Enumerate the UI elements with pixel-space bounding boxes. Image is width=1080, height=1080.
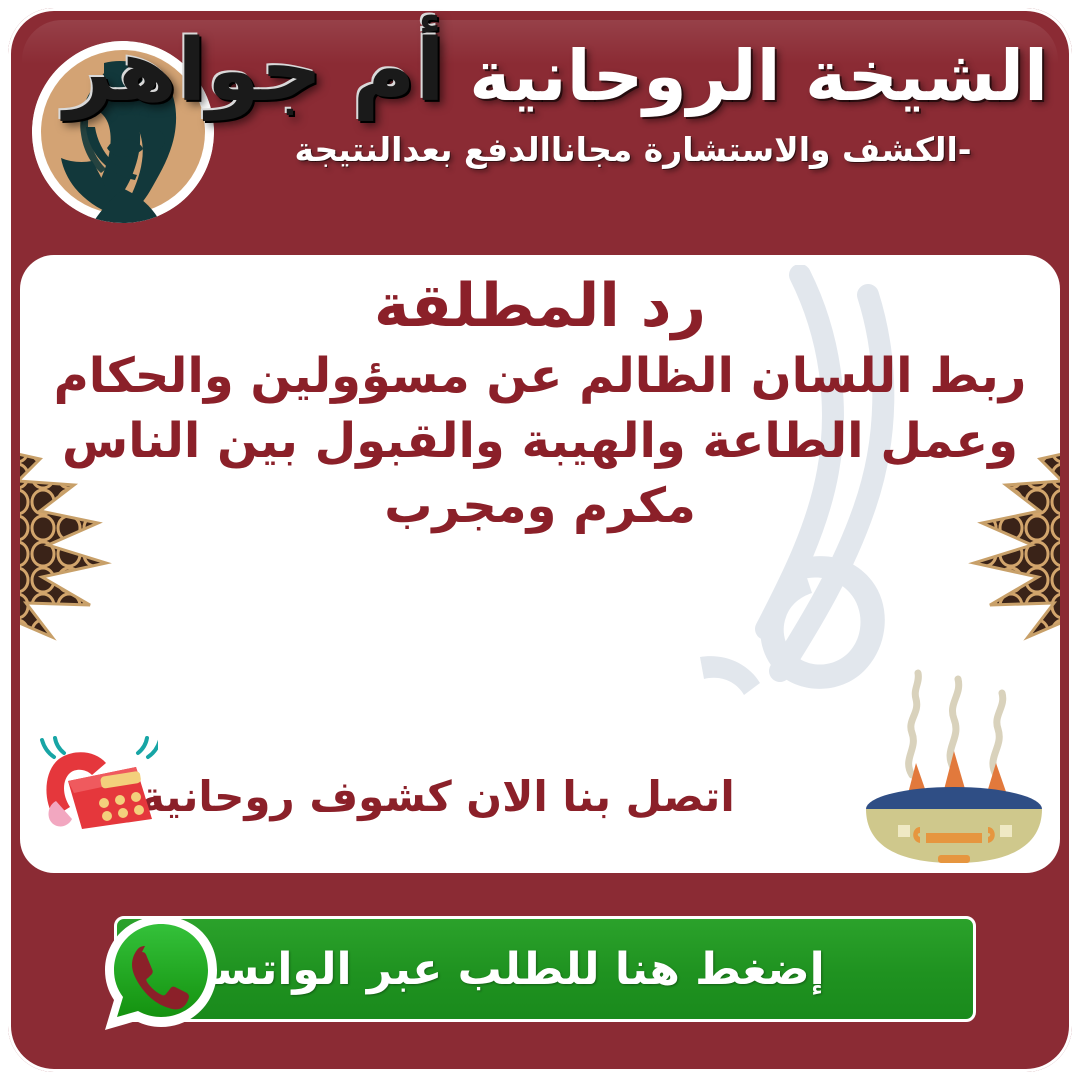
ringing-telephone-icon (38, 731, 158, 835)
poster-card: الشيخة الروحانية أم جواهر -الكشف والاستش… (8, 8, 1072, 1072)
body-heading: رد المطلقة (20, 269, 1060, 344)
body-line-2: وعمل الطاعة والهيبة والقبول بين الناس (20, 409, 1060, 474)
body-line-1: ربط اللسان الظالم عن مسؤولين والحكام (20, 344, 1060, 409)
content-panel: رد المطلقة ربط اللسان الظالم عن مسؤولين … (20, 255, 1060, 873)
brand-title: الشيخة الروحانية أم جواهر (218, 26, 1048, 116)
incense-burner-icon (854, 643, 1054, 863)
brand-title-name: أم جواهر (64, 21, 445, 121)
header-title-block: الشيخة الروحانية أم جواهر -الكشف والاستش… (218, 26, 1048, 169)
header: الشيخة الروحانية أم جواهر -الكشف والاستش… (8, 8, 1072, 258)
whatsapp-button-label: إضغط هنا للطلب عبر الواتساب (155, 944, 934, 995)
whatsapp-order-button[interactable]: إضغط هنا للطلب عبر الواتساب (114, 916, 976, 1022)
brand-subtitle: -الكشف والاستشارة مجاناالدفع بعدالنتيجة (218, 130, 1048, 169)
whatsapp-icon[interactable] (100, 912, 222, 1034)
poster-root: الشيخة الروحانية أم جواهر -الكشف والاستش… (0, 0, 1080, 1080)
brand-title-prefix: الشيخة الروحانية (469, 35, 1048, 117)
body-line-3: مكرم ومجرب (20, 474, 1060, 539)
body-text-block: رد المطلقة ربط اللسان الظالم عن مسؤولين … (20, 269, 1060, 538)
cta-text: اتصل بنا الان كشوف روحانية (140, 772, 830, 821)
cta-row: اتصل بنا الان كشوف روحانية (20, 643, 1060, 863)
